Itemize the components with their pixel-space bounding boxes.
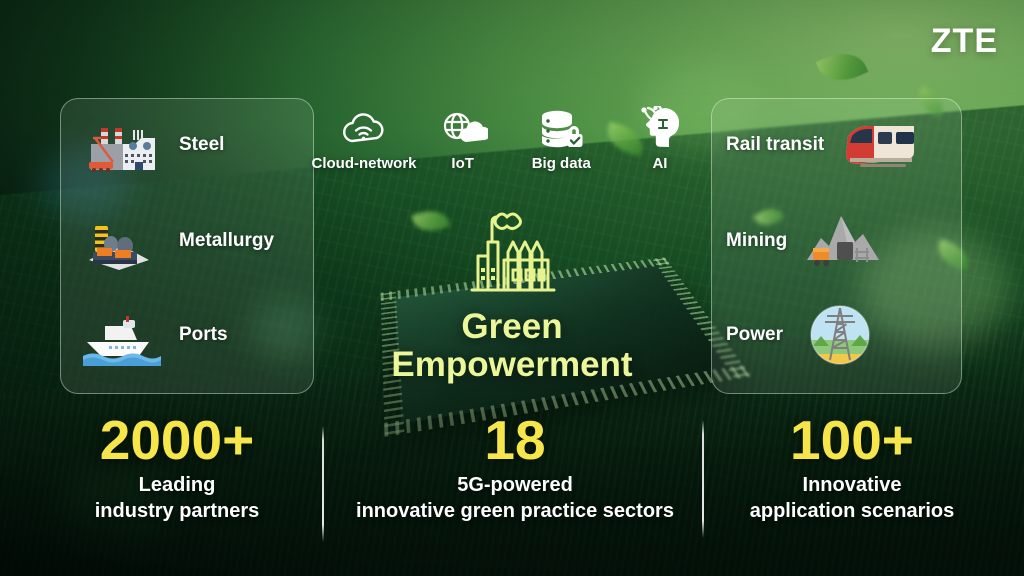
stats-divider bbox=[702, 420, 704, 538]
tech-item-cloud-network[interactable]: Cloud-network bbox=[316, 104, 412, 172]
tech-label: AI bbox=[652, 155, 667, 172]
right-industry-panel: Rail transit Mining bbox=[711, 98, 962, 394]
steel-factory-icon bbox=[79, 112, 165, 178]
stat-caption-line1: 5G-powered bbox=[350, 472, 680, 498]
stat-value: 18 bbox=[350, 412, 680, 468]
panel-item-label: Power bbox=[726, 324, 783, 346]
panel-item-label: Ports bbox=[179, 324, 228, 346]
stat-caption-line1: Innovative bbox=[718, 472, 986, 498]
stat-caption-line2: industry partners bbox=[42, 498, 312, 524]
center-title: Green Empowerment bbox=[391, 308, 632, 384]
panel-item-ports[interactable]: Ports bbox=[79, 299, 299, 371]
panel-item-label: Steel bbox=[179, 134, 224, 156]
mine-mountain-icon bbox=[801, 208, 887, 274]
panel-item-steel[interactable]: Steel bbox=[79, 109, 299, 181]
zte-logo: ZTE bbox=[931, 22, 998, 61]
center-concept: Green Empowerment bbox=[330, 212, 694, 384]
panel-item-power[interactable]: Power bbox=[726, 299, 947, 371]
panel-item-rail-transit[interactable]: Rail transit bbox=[726, 109, 947, 181]
infographic-slide: ZTE bbox=[0, 0, 1024, 576]
database-lock-icon bbox=[536, 104, 586, 148]
tech-label: Big data bbox=[532, 155, 591, 172]
factory-outline-icon bbox=[456, 212, 568, 298]
stat-sectors: 18 5G-powered innovative green practice … bbox=[350, 412, 680, 525]
panel-item-label: Rail transit bbox=[726, 134, 824, 156]
tech-label: Cloud-network bbox=[312, 155, 417, 172]
globe-cloud-icon bbox=[438, 104, 488, 148]
center-title-line1: Green bbox=[391, 308, 632, 346]
panel-item-mining[interactable]: Mining bbox=[726, 205, 947, 277]
stat-caption-line1: Leading bbox=[42, 472, 312, 498]
metallurgy-plant-icon bbox=[79, 208, 165, 274]
ai-head-icon bbox=[635, 104, 685, 148]
stat-partners: 2000+ Leading industry partners bbox=[42, 412, 312, 525]
stats-divider bbox=[322, 426, 324, 542]
tech-item-big-data[interactable]: Big data bbox=[513, 104, 609, 172]
statistics-row: 2000+ Leading industry partners 18 5G-po… bbox=[0, 412, 1024, 542]
stat-scenarios: 100+ Innovative application scenarios bbox=[718, 412, 986, 525]
train-icon bbox=[838, 112, 924, 178]
panel-item-label: Metallurgy bbox=[179, 230, 274, 252]
stat-caption-line2: application scenarios bbox=[718, 498, 986, 524]
panel-item-label: Mining bbox=[726, 230, 787, 252]
left-industry-panel: Steel Metallurgy bbox=[60, 98, 314, 394]
power-tower-icon bbox=[797, 302, 883, 368]
stat-value: 100+ bbox=[718, 412, 986, 468]
center-title-line2: Empowerment bbox=[391, 346, 632, 384]
tech-label: IoT bbox=[451, 155, 474, 172]
stat-caption-line2: innovative green practice sectors bbox=[350, 498, 680, 524]
panel-item-metallurgy[interactable]: Metallurgy bbox=[79, 205, 299, 277]
tech-item-iot[interactable]: IoT bbox=[415, 104, 511, 172]
cloud-wifi-icon bbox=[339, 104, 389, 148]
technology-icon-row: Cloud-network IoT bbox=[316, 104, 708, 172]
tech-item-ai[interactable]: AI bbox=[612, 104, 708, 172]
stat-value: 2000+ bbox=[42, 412, 312, 468]
ship-port-icon bbox=[79, 302, 165, 368]
